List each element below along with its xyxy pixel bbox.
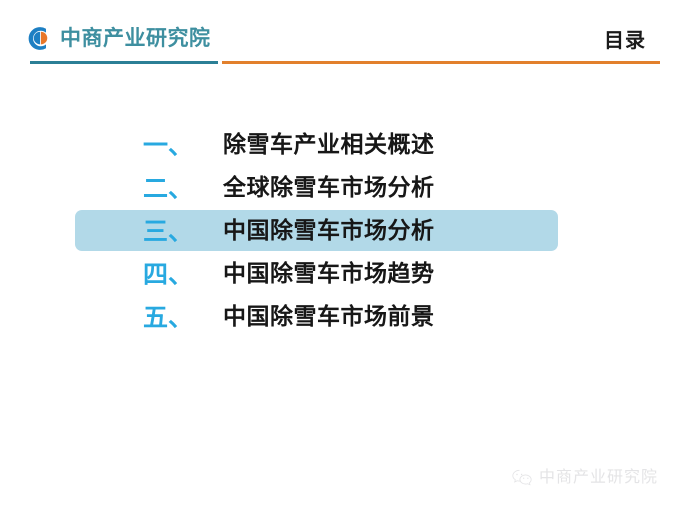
toc-item-number: 四、 [143,262,223,287]
toc-item-5[interactable]: 五、 中国除雪车市场前景 [0,296,680,339]
toc-item-label: 中国除雪车市场分析 [223,220,435,243]
toc-item-1[interactable]: 一、 除雪车产业相关概述 [0,124,680,167]
toc-item-number: 三、 [143,219,223,244]
slide-header: 中商产业研究院 目录 [0,0,680,78]
toc-item-4[interactable]: 四、 中国除雪车市场趋势 [0,253,680,296]
brand-name: 中商产业研究院 [60,28,211,49]
toc-item-2[interactable]: 二、 全球除雪车市场分析 [0,167,680,210]
toc-item-label: 中国除雪车市场趋势 [223,263,435,286]
toc-item-number: 五、 [143,305,223,330]
watermark-text: 中商产业研究院 [539,469,658,485]
toc-item-3[interactable]: 三、 中国除雪车市场分析 [0,210,680,253]
header-rule-right [222,61,660,64]
header-rule-left [30,61,218,64]
page-title: 目录 [604,30,646,50]
zs-circle-logo-icon [27,25,54,52]
brand-logo: 中商产业研究院 [27,25,211,52]
toc-item-label: 中国除雪车市场前景 [223,306,435,329]
toc-list: 一、 除雪车产业相关概述 二、 全球除雪车市场分析 三、 中国除雪车市场分析 四… [0,124,680,339]
watermark: 中商产业研究院 [512,468,658,486]
toc-item-label: 全球除雪车市场分析 [223,177,435,200]
wechat-icon [512,468,532,486]
toc-item-label: 除雪车产业相关概述 [223,134,435,157]
toc-item-number: 二、 [143,176,223,201]
toc-item-number: 一、 [143,133,223,158]
slide-canvas: 中商产业研究院 目录 一、 除雪车产业相关概述 二、 全球除雪车市场分析 三、 … [0,0,680,506]
